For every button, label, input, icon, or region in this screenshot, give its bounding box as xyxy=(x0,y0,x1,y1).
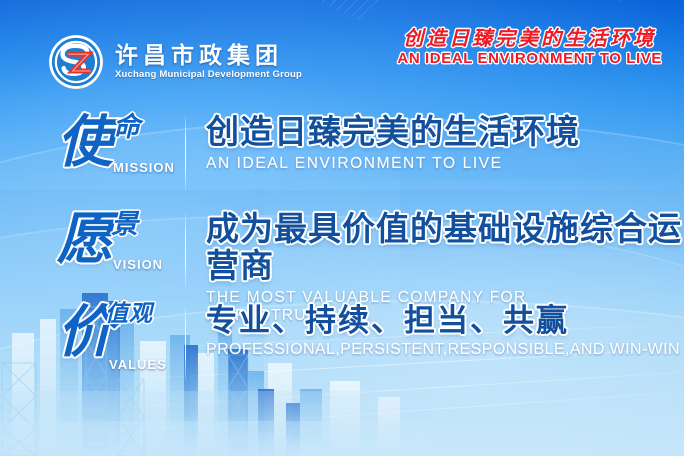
label-values-en: VALUES xyxy=(109,357,167,372)
header-slogan-en: AN IDEAL ENVIRONMENT TO LIVE xyxy=(397,51,662,68)
label-mission-cn-big: 使 xyxy=(57,116,113,169)
label-vision: 愿 景 VISION xyxy=(55,209,185,287)
vision-text-cn: 成为最具价值的基础设施综合运营商 xyxy=(206,211,684,285)
brand-name-en: Xuchang Municipal Development Group xyxy=(115,70,302,80)
row-mission: 使 命 MISSION 创造日臻完美的生活环境 AN IDEAL ENVIRON… xyxy=(0,112,684,190)
divider-vision xyxy=(185,213,186,287)
content-values: 专业、持续、担当、共赢 PROFESSIONAL,PERSISTENT,RESP… xyxy=(206,302,680,359)
brand-name-cn: 许昌市政集团 xyxy=(115,44,302,69)
header: 许昌市政集团 Xuchang Municipal Development Gro… xyxy=(0,0,684,104)
divider-mission xyxy=(185,116,186,190)
company-logo-block[interactable]: 许昌市政集团 Xuchang Municipal Development Gro… xyxy=(48,34,302,90)
label-mission-en: MISSION xyxy=(113,160,175,175)
content-mission: 创造日臻完美的生活环境 AN IDEAL ENVIRONMENT TO LIVE xyxy=(206,112,580,173)
divider-values xyxy=(185,306,186,380)
label-mission-cn-small: 命 xyxy=(113,114,140,141)
company-circular-sz-emblem xyxy=(48,34,104,90)
mission-text-cn: 创造日臻完美的生活环境 xyxy=(206,114,580,151)
row-values: 价 值观 VALUES 专业、持续、担当、共赢 PROFESSIONAL,PER… xyxy=(0,302,684,380)
label-values: 价 值观 VALUES xyxy=(55,302,185,380)
values-text-cn: 专业、持续、担当、共赢 xyxy=(206,304,680,339)
label-values-cn-small: 值观 xyxy=(105,302,153,325)
header-slogan: 创造日臻完美的生活环境 AN IDEAL ENVIRONMENT TO LIVE xyxy=(397,26,662,68)
mission-text-en: AN IDEAL ENVIRONMENT TO LIVE xyxy=(206,155,580,173)
label-vision-cn-small: 景 xyxy=(111,211,138,238)
brand-text: 许昌市政集团 Xuchang Municipal Development Gro… xyxy=(115,44,302,80)
label-mission: 使 命 MISSION xyxy=(55,112,185,190)
poster-canvas: 许昌市政集团 Xuchang Municipal Development Gro… xyxy=(0,0,684,456)
label-vision-cn-big: 愿 xyxy=(57,213,113,266)
values-text-en: PROFESSIONAL,PERSISTENT,RESPONSIBLE,AND … xyxy=(206,341,680,359)
label-vision-en: VISION xyxy=(113,257,163,272)
header-slogan-cn: 创造日臻完美的生活环境 xyxy=(397,26,662,50)
